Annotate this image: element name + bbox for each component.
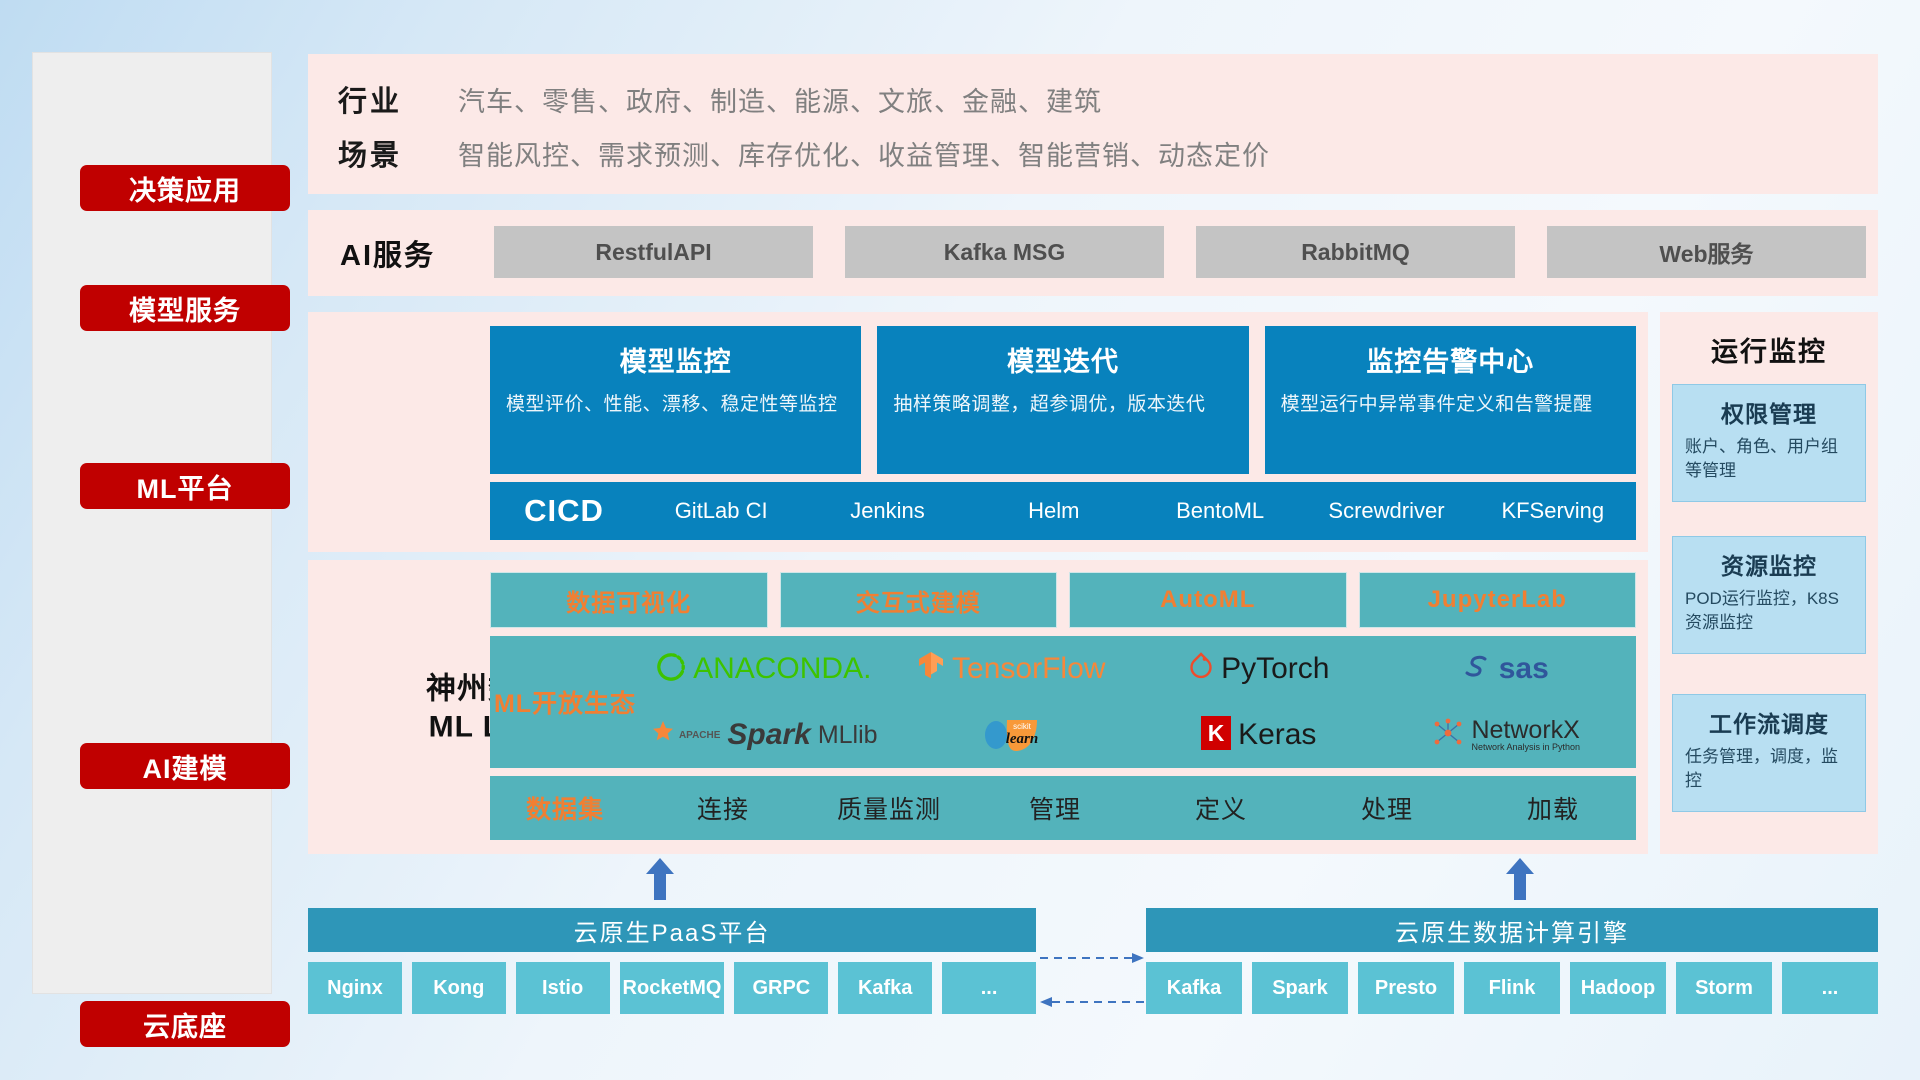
- cicd-item[interactable]: GitLab CI: [638, 499, 804, 522]
- rail-chip-label: AI建模: [143, 747, 228, 786]
- dashed-connector-right: [1040, 952, 1144, 954]
- mlops-card-title: 模型监控: [506, 340, 845, 379]
- engine-tile[interactable]: ...: [1782, 962, 1878, 1014]
- dataset-title: 数据集: [490, 790, 640, 826]
- svg-text:learn: learn: [1006, 731, 1039, 747]
- scenario-value: 智能风控、需求预测、库存优化、收益管理、智能营销、动态定价: [458, 134, 1270, 173]
- logo-pytorch-label: PyTorch: [1221, 654, 1329, 684]
- data-engine-bar[interactable]: 云原生数据计算引擎: [1146, 908, 1878, 952]
- mllib-label: MLlib: [818, 723, 878, 748]
- apache-spark-icon: [650, 720, 676, 751]
- logo-spark-mllib: APACHE Spark MLlib: [650, 720, 878, 751]
- ml-lab-tab-list: 数据可视化 交互式建模 AutoML JupyterLab: [490, 572, 1636, 628]
- layer-rail: 决策应用 模型服务 ML平台 AI建模 云底座: [32, 52, 272, 994]
- paas-tile[interactable]: GRPC: [734, 962, 828, 1014]
- ml-ecosystem-row: ML开放生态 ANACONDA. TensorFlow: [490, 636, 1636, 768]
- scenario-row: 场景 智能风控、需求预测、库存优化、收益管理、智能营销、动态定价: [338, 130, 1270, 176]
- paas-tile[interactable]: Nginx: [308, 962, 402, 1014]
- ai-service-chip[interactable]: RabbitMQ: [1196, 226, 1515, 278]
- cicd-row: CICD GitLab CI Jenkins Helm BentoML Scre…: [490, 482, 1636, 540]
- logo-tensorflow-label: TensorFlow: [952, 654, 1105, 684]
- logo-networkx-label: NetworkX: [1471, 718, 1580, 743]
- logo-keras-label: Keras: [1238, 720, 1316, 750]
- dataset-row: 数据集 连接 质量监测 管理 定义 处理 加载: [490, 776, 1636, 840]
- ai-service-chip[interactable]: Web服务: [1547, 226, 1866, 278]
- cicd-item-list: GitLab CI Jenkins Helm BentoML Screwdriv…: [638, 499, 1636, 522]
- mlops-card-alert-center[interactable]: 监控告警中心 模型运行中异常事件定义和告警提醒: [1265, 326, 1636, 474]
- networkx-icon: [1432, 718, 1464, 753]
- networkx-sublabel: Network Analysis in Python: [1471, 743, 1580, 752]
- ml-lab-band: 神州数码 ML LAB 数据可视化 交互式建模 AutoML JupyterLa…: [308, 560, 1648, 854]
- mlops-card-desc: 模型运行中异常事件定义和告警提醒: [1281, 391, 1620, 419]
- paas-tile[interactable]: ...: [942, 962, 1036, 1014]
- logo-networkx: NetworkX Network Analysis in Python: [1432, 718, 1580, 753]
- rail-chip-label: ML平台: [137, 467, 234, 506]
- dashed-connector-left: [1040, 996, 1144, 998]
- dataset-item[interactable]: 连接: [640, 790, 806, 826]
- rail-chip-ai-modeling[interactable]: AI建模: [80, 743, 290, 789]
- rail-chip-label: 模型服务: [129, 289, 241, 328]
- engine-tile[interactable]: Hadoop: [1570, 962, 1666, 1014]
- sas-icon: [1464, 653, 1492, 686]
- cicd-item[interactable]: Helm: [971, 499, 1137, 522]
- engine-tile[interactable]: Storm: [1676, 962, 1772, 1014]
- mlops-card-list: 模型监控 模型评价、性能、漂移、稳定性等监控 模型迭代 抽样策略调整，超参调优，…: [490, 326, 1636, 474]
- ai-service-chip[interactable]: Kafka MSG: [845, 226, 1164, 278]
- rail-chip-label: 云底座: [143, 1005, 227, 1044]
- up-arrow-icon-right: [1500, 858, 1540, 900]
- ai-service-chip[interactable]: RestfulAPI: [494, 226, 813, 278]
- monitor-card-resource[interactable]: 资源监控 POD运行监控，K8S资源监控: [1672, 536, 1866, 654]
- pytorch-icon: [1188, 652, 1214, 687]
- ai-service-chip-list: RestfulAPI Kafka MSG RabbitMQ Web服务: [494, 226, 1866, 278]
- keras-icon: K: [1201, 716, 1231, 755]
- cicd-title: CICD: [490, 493, 638, 529]
- industry-label: 行业: [338, 78, 458, 120]
- monitor-card-title: 资源监控: [1685, 547, 1853, 581]
- architecture-diagram: 决策应用 模型服务 ML平台 AI建模 云底座 行业 汽车、零售、政府、制造、能…: [0, 0, 1920, 1080]
- cicd-item[interactable]: Screwdriver: [1303, 499, 1469, 522]
- mlops-card-title: 监控告警中心: [1281, 340, 1620, 379]
- rail-chip-ml-platform[interactable]: ML平台: [80, 463, 290, 509]
- cicd-item[interactable]: BentoML: [1137, 499, 1303, 522]
- logo-anaconda: ANACONDA.: [656, 652, 871, 687]
- mlops-card-model-monitoring[interactable]: 模型监控 模型评价、性能、漂移、稳定性等监控: [490, 326, 861, 474]
- paas-tile[interactable]: Kong: [412, 962, 506, 1014]
- monitor-card-title: 权限管理: [1685, 395, 1853, 429]
- tensorflow-icon: [917, 651, 945, 688]
- logo-scikit-learn: scikit learn: [981, 714, 1041, 757]
- mlops-card-desc: 抽样策略调整，超参调优，版本迭代: [893, 391, 1232, 419]
- logo-tensorflow: TensorFlow: [917, 651, 1105, 688]
- svg-text:K: K: [1208, 720, 1225, 746]
- industry-row: 行业 汽车、零售、政府、制造、能源、文旅、金融、建筑: [338, 76, 1102, 122]
- ml-ecosystem-label: ML开放生态: [490, 684, 640, 720]
- mlops-band: MLOps 模型监控 模型评价、性能、漂移、稳定性等监控 模型迭代 抽样策略调整…: [308, 312, 1648, 552]
- svg-text:scikit: scikit: [1013, 722, 1032, 731]
- mlops-card-model-iteration[interactable]: 模型迭代 抽样策略调整，超参调优，版本迭代: [877, 326, 1248, 474]
- anaconda-icon: [656, 652, 686, 687]
- rail-chip-cloud-base[interactable]: 云底座: [80, 1001, 290, 1047]
- paas-tile-list: Nginx Kong Istio RocketMQ GRPC Kafka ...: [308, 962, 1036, 1014]
- logo-pytorch: PyTorch: [1188, 652, 1329, 687]
- logo-sas-label: sas: [1499, 654, 1549, 684]
- mlops-card-title: 模型迭代: [893, 340, 1232, 379]
- rail-chip-label: 决策应用: [129, 169, 241, 208]
- engine-tile[interactable]: Spark: [1252, 962, 1348, 1014]
- spark-label: Spark: [727, 720, 810, 750]
- paas-tile[interactable]: RocketMQ: [620, 962, 725, 1014]
- industry-scenario-band: 行业 汽车、零售、政府、制造、能源、文旅、金融、建筑 场景 智能风控、需求预测、…: [308, 54, 1878, 194]
- monitor-card-desc: 任务管理，调度，监控: [1685, 745, 1853, 793]
- up-arrow-icon-left: [640, 858, 680, 900]
- logo-keras: K Keras: [1201, 716, 1316, 755]
- engine-tile[interactable]: Kafka: [1146, 962, 1242, 1014]
- engine-tile[interactable]: Presto: [1358, 962, 1454, 1014]
- cicd-item[interactable]: KFServing: [1470, 499, 1636, 522]
- mlops-card-desc: 模型评价、性能、漂移、稳定性等监控: [506, 391, 845, 419]
- logo-anaconda-label: ANACONDA.: [693, 654, 871, 684]
- ai-service-label: AI服务: [340, 232, 490, 274]
- scenario-label: 场景: [338, 132, 458, 174]
- dataset-item[interactable]: 质量监测: [806, 790, 972, 826]
- monitor-card-desc: 账户、角色、用户组等管理: [1685, 435, 1853, 483]
- cicd-item[interactable]: Jenkins: [804, 499, 970, 522]
- tab-interactive-modeling[interactable]: 交互式建模: [780, 572, 1058, 628]
- monitor-card-title: 工作流调度: [1685, 705, 1853, 739]
- paas-platform-bar[interactable]: 云原生PaaS平台: [308, 908, 1036, 952]
- runtime-monitoring-title: 运行监控: [1660, 330, 1878, 369]
- logo-sas: sas: [1464, 653, 1549, 686]
- monitor-card-permission[interactable]: 权限管理 账户、角色、用户组等管理: [1672, 384, 1866, 502]
- industry-value: 汽车、零售、政府、制造、能源、文旅、金融、建筑: [458, 80, 1102, 119]
- tab-jupyterlab[interactable]: JupyterLab: [1359, 572, 1637, 628]
- engine-tile[interactable]: Flink: [1464, 962, 1560, 1014]
- tab-automl[interactable]: AutoML: [1069, 572, 1347, 628]
- runtime-monitoring-band: 运行监控 权限管理 账户、角色、用户组等管理 资源监控 POD运行监控，K8S资…: [1660, 312, 1878, 854]
- ml-ecosystem-logo-grid: ANACONDA. TensorFlow PyTorch: [640, 636, 1636, 768]
- monitor-card-desc: POD运行监控，K8S资源监控: [1685, 587, 1853, 635]
- ai-service-band: AI服务 RestfulAPI Kafka MSG RabbitMQ Web服务: [308, 210, 1878, 296]
- rail-chip-decision-app[interactable]: 决策应用: [80, 165, 290, 211]
- monitor-card-workflow[interactable]: 工作流调度 任务管理，调度，监控: [1672, 694, 1866, 812]
- paas-tile[interactable]: Kafka: [838, 962, 932, 1014]
- rail-chip-model-service[interactable]: 模型服务: [80, 285, 290, 331]
- tab-data-visualization[interactable]: 数据可视化: [490, 572, 768, 628]
- dataset-item[interactable]: 加载: [1470, 790, 1636, 826]
- dataset-item[interactable]: 管理: [972, 790, 1138, 826]
- spark-apache-label: APACHE: [679, 730, 720, 741]
- scikit-learn-icon: scikit learn: [981, 714, 1041, 757]
- engine-tile-list: Kafka Spark Presto Flink Hadoop Storm ..…: [1146, 962, 1878, 1014]
- paas-tile[interactable]: Istio: [516, 962, 610, 1014]
- dataset-item[interactable]: 处理: [1304, 790, 1470, 826]
- dataset-item-list: 连接 质量监测 管理 定义 处理 加载: [640, 790, 1636, 826]
- dataset-item[interactable]: 定义: [1138, 790, 1304, 826]
